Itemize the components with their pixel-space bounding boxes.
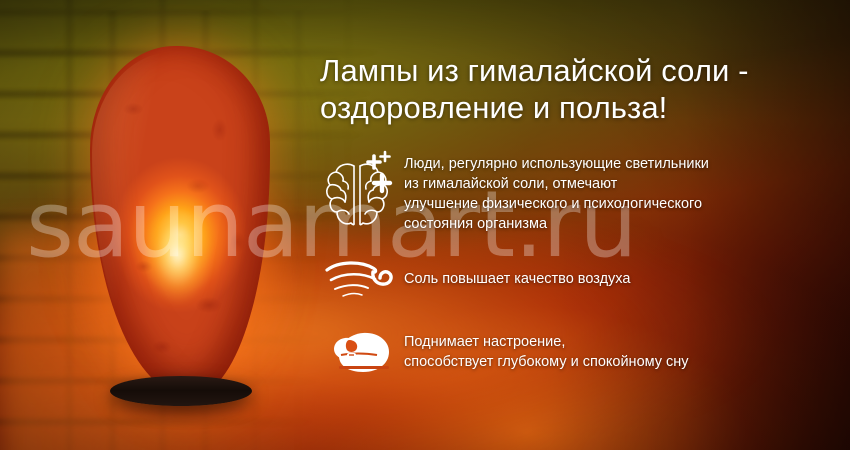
feature-1-line-4: состояния организма [404, 214, 709, 234]
feature-3-line-1: Поднимает настроение, [404, 332, 689, 352]
salt-lamp-product-image [62, 38, 298, 434]
feature-text-sleep: Поднимает настроение, способствует глубо… [404, 330, 689, 372]
feature-2-line-1: Соль повышает качество воздуха [404, 269, 630, 289]
salt-lamp-promo-banner: saunamart.ru Лампы из гималайской соли -… [0, 0, 850, 450]
feature-item-air-quality: Соль повышает качество воздуха [318, 254, 850, 302]
brain-sparkle-icon [318, 148, 404, 234]
feature-1-line-1: Люди, регулярно использующие светильники [404, 154, 709, 174]
content-column: Лампы из гималайской соли - оздоровление… [318, 0, 850, 450]
feature-text-air-quality: Соль повышает качество воздуха [404, 267, 630, 289]
feature-list: Люди, регулярно использующие светильники… [318, 148, 850, 382]
sleeping-person-icon [318, 320, 404, 382]
wind-swirl-icon [318, 254, 404, 302]
page-title: Лампы из гималайской соли - оздоровление… [320, 52, 840, 126]
lamp-wooden-base [110, 376, 252, 406]
page-title-line-2: оздоровление и польза! [320, 89, 840, 126]
feature-1-line-3: улучшение физического и психологического [404, 194, 709, 214]
feature-item-sleep: Поднимает настроение, способствует глубо… [318, 320, 850, 382]
page-title-line-1: Лампы из гималайской соли - [320, 52, 840, 89]
feature-item-wellbeing: Люди, регулярно использующие светильники… [318, 148, 850, 240]
feature-3-line-2: способствует глубокому и спокойному сну [404, 352, 689, 372]
feature-1-line-2: из гималайской соли, отмечают [404, 174, 709, 194]
feature-text-wellbeing: Люди, регулярно использующие светильники… [404, 148, 709, 234]
